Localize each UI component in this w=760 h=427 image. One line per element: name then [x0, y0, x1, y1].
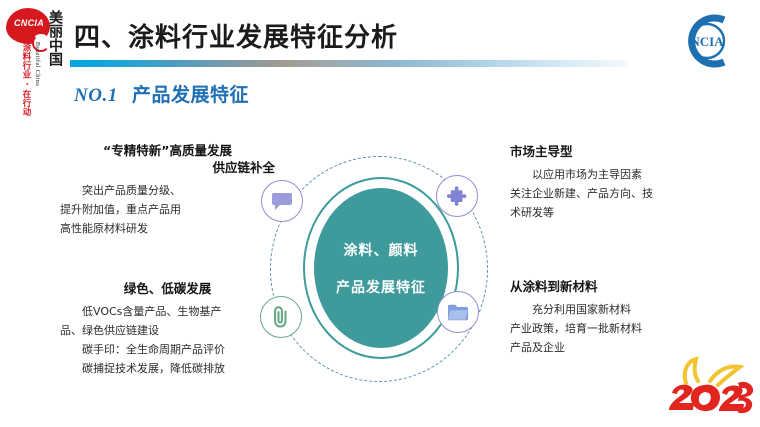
block-body-line: 高性能原材料研发 [60, 219, 275, 238]
block-body-line: 以应用市场为主导因素 [510, 165, 725, 184]
block-body-line: 品、绿色供应链建设 [60, 321, 275, 340]
folder-icon [437, 291, 479, 333]
feature-block-bottom-left: 绿色、低碳发展 低VOCs含量产品、生物基产 品、绿色供应链建设 碳手印：全生命… [60, 280, 275, 378]
cncia-logo: CNCIA 美丽中国 Beautiful China 涂料行业 · 在行动 [4, 6, 66, 124]
block-heading-line: 从涂料到新材料 [510, 278, 725, 295]
block-body: 以应用市场为主导因素 关注企业新建、产品方向、技 术研发等 [510, 165, 725, 222]
block-body-line: 低VOCs含量产品、生物基产 [60, 302, 275, 321]
block-body: 突出产品质量分级、 提升附加值，重点产品用 高性能原材料研发 [60, 181, 275, 238]
block-body-line: 碳捕捉技术发展，降低碳排放 [60, 359, 275, 378]
block-body-line: 提升附加值，重点产品用 [60, 200, 275, 219]
block-body-line: 碳手印：全生命周期产品评价 [60, 340, 275, 359]
core-line-1: 涂料、颜料 [344, 240, 419, 260]
title-divider [70, 60, 628, 67]
block-body-line: 充分利用国家新材料 [510, 300, 725, 319]
block-body-line: 产业政策，培育一批新材料 [510, 319, 725, 338]
feature-block-top-left: “专精特新”高质量发展 供应链补全 突出产品质量分级、 提升附加值，重点产品用 … [60, 142, 275, 238]
block-heading: “专精特新”高质量发展 供应链补全 [60, 142, 275, 176]
center-diagram: 涂料、颜料 产品发展特征 [248, 150, 512, 390]
subtitle-label: 产品发展特征 [132, 84, 249, 106]
block-heading-line: 市场主导型 [510, 143, 725, 160]
cncia-en-name: Beautiful China [34, 42, 40, 86]
block-body: 充分利用国家新材料 产业政策，培育一批新材料 产品及企业 [510, 300, 725, 357]
block-body-line: 关注企业新建、产品方向、技 [510, 184, 725, 203]
speech-bubble-icon [261, 180, 303, 222]
block-heading-line: 绿色、低碳发展 [60, 280, 275, 297]
cncia-cn-name: 美丽中国 [42, 10, 62, 66]
subtitle-number: NO.1 [74, 85, 118, 106]
puzzle-piece-icon [436, 175, 478, 217]
block-heading: 从涂料到新材料 [510, 278, 725, 295]
cncia-tagline: 涂料行业 · 在行动 [21, 43, 30, 117]
block-body-line: 突出产品质量分级、 [60, 181, 275, 200]
feature-block-top-right: 市场主导型 以应用市场为主导因素 关注企业新建、产品方向、技 术研发等 [510, 143, 725, 222]
page-title: 四、涂料行业发展特征分析 [74, 17, 398, 54]
slide-canvas: CNCIA 美丽中国 Beautiful China 涂料行业 · 在行动 四、… [0, 0, 760, 427]
page-subtitle: NO.1 产品发展特征 [74, 80, 249, 107]
year-2023-decoration [652, 353, 756, 419]
block-body: 低VOCs含量产品、生物基产 品、绿色供应链建设 碳手印：全生命周期产品评价 碳… [60, 302, 275, 378]
ncia-logo: NCIA [676, 10, 744, 72]
core-circle: 涂料、颜料 产品发展特征 [311, 185, 451, 351]
svg-text:NCIA: NCIA [690, 34, 724, 49]
block-body-line: 术研发等 [510, 203, 725, 222]
block-heading-line: 供应链补全 [60, 159, 275, 176]
block-heading-line: “专精特新”高质量发展 [60, 142, 275, 159]
paperclip-icon [260, 296, 302, 338]
feature-block-bottom-right: 从涂料到新材料 充分利用国家新材料 产业政策，培育一批新材料 产品及企业 [510, 278, 725, 357]
block-heading: 市场主导型 [510, 143, 725, 160]
core-line-2: 产品发展特征 [336, 277, 426, 297]
block-heading: 绿色、低碳发展 [60, 280, 275, 297]
